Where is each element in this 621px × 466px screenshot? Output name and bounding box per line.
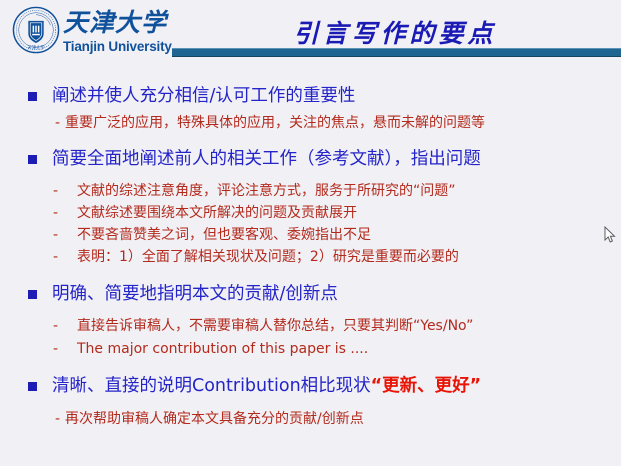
- bullet-square-icon: [28, 290, 37, 299]
- page-title: 引言写作的要点: [180, 14, 610, 50]
- slide-body: 阐述并使人充分相信/认可工作的重要性 - 重要广泛的应用，特殊具体的应用，关注的…: [0, 62, 621, 466]
- bullet-heading-4-emphasis: “更新、更好”: [371, 375, 482, 397]
- slide-header: 天津大学 天津大学 Tianjin University 引言写作的要点: [0, 0, 621, 62]
- title-underline-rule: [172, 48, 621, 57]
- sub-bullet-3-1-label: 直接告诉审稿人，不需要审稿人替你总结，只要其判断“Yes/No”: [77, 316, 473, 336]
- dash-marker-icon: -: [53, 225, 60, 245]
- tju-name-cn: 天津大学: [63, 8, 173, 38]
- bullet-heading-2: 简要全面地阐述前人的相关工作（参考文献），指出问题: [28, 148, 481, 170]
- sub-bullet-2-4: - 表明：1）全面了解相关现状及问题；2）研究是重要而必要的: [53, 247, 459, 267]
- tju-wordmark: 天津大学 Tianjin University: [63, 8, 173, 56]
- bullet-heading-3-label: 明确、简要地指明本文的贡献/创新点: [52, 283, 338, 305]
- sub-bullet-3-1: - 直接告诉审稿人，不需要审稿人替你总结，只要其判断“Yes/No”: [53, 316, 473, 336]
- bullet-square-icon: [28, 382, 37, 391]
- sub-bullet-4-1-label: 再次帮助审稿人确定本文具备充分的贡献/创新点: [65, 409, 364, 429]
- dash-marker-icon: -: [53, 316, 60, 336]
- svg-text:天津大学: 天津大学: [27, 44, 45, 51]
- sub-bullet-2-1-label: 文献的综述注意角度，评论注意方式，服务于所研究的“问题”: [77, 181, 456, 201]
- sub-bullet-3-2-label: The major contribution of this paper is …: [77, 339, 368, 359]
- sub-bullet-2-3-label: 不要吝啬赞美之词，但也要客观、委婉指出不足: [77, 225, 371, 245]
- bullet-heading-4: 清晰、直接的说明Contribution相比现状 “更新、更好”: [28, 375, 481, 397]
- dash-marker-icon: -: [55, 113, 62, 133]
- bullet-heading-2-label: 简要全面地阐述前人的相关工作（参考文献），指出问题: [52, 148, 481, 170]
- tju-name-en: Tianjin University: [63, 39, 175, 54]
- sub-bullet-2-2: - 文献综述要围绕本文所解决的问题及贡献展开: [53, 203, 357, 223]
- dash-marker-icon: -: [53, 247, 60, 267]
- tianjin-university-seal-icon: 天津大学: [12, 6, 60, 54]
- bullet-square-icon: [28, 92, 37, 101]
- mouse-pointer-icon: [604, 226, 616, 244]
- dash-marker-icon: -: [53, 203, 60, 223]
- sub-bullet-3-2: - The major contribution of this paper i…: [53, 339, 368, 359]
- sub-bullet-2-3: - 不要吝啬赞美之词，但也要客观、委婉指出不足: [53, 225, 371, 245]
- sub-bullet-4-1: - 再次帮助审稿人确定本文具备充分的贡献/创新点: [55, 409, 364, 429]
- sub-bullet-2-4-label: 表明：1）全面了解相关现状及问题；2）研究是重要而必要的: [77, 247, 459, 267]
- bullet-square-icon: [28, 155, 37, 164]
- bullet-heading-1-label: 阐述并使人充分相信/认可工作的重要性: [52, 85, 355, 107]
- sub-bullet-1-1-label: 重要广泛的应用，特殊具体的应用，关注的焦点，悬而未解的问题等: [65, 113, 485, 133]
- presentation-slide: 天津大学 天津大学 Tianjin University 引言写作的要点 阐述并…: [0, 0, 621, 466]
- dash-marker-icon: -: [53, 181, 60, 201]
- dash-marker-icon: -: [55, 409, 62, 429]
- sub-bullet-1-1: - 重要广泛的应用，特殊具体的应用，关注的焦点，悬而未解的问题等: [55, 113, 485, 133]
- bullet-heading-3: 明确、简要地指明本文的贡献/创新点: [28, 283, 338, 305]
- bullet-heading-4-label: 清晰、直接的说明Contribution相比现状: [52, 375, 371, 397]
- sub-bullet-2-2-label: 文献综述要围绕本文所解决的问题及贡献展开: [77, 203, 357, 223]
- bullet-heading-1: 阐述并使人充分相信/认可工作的重要性: [28, 85, 355, 107]
- dash-marker-icon: -: [53, 339, 60, 359]
- sub-bullet-2-1: - 文献的综述注意角度，评论注意方式，服务于所研究的“问题”: [53, 181, 456, 201]
